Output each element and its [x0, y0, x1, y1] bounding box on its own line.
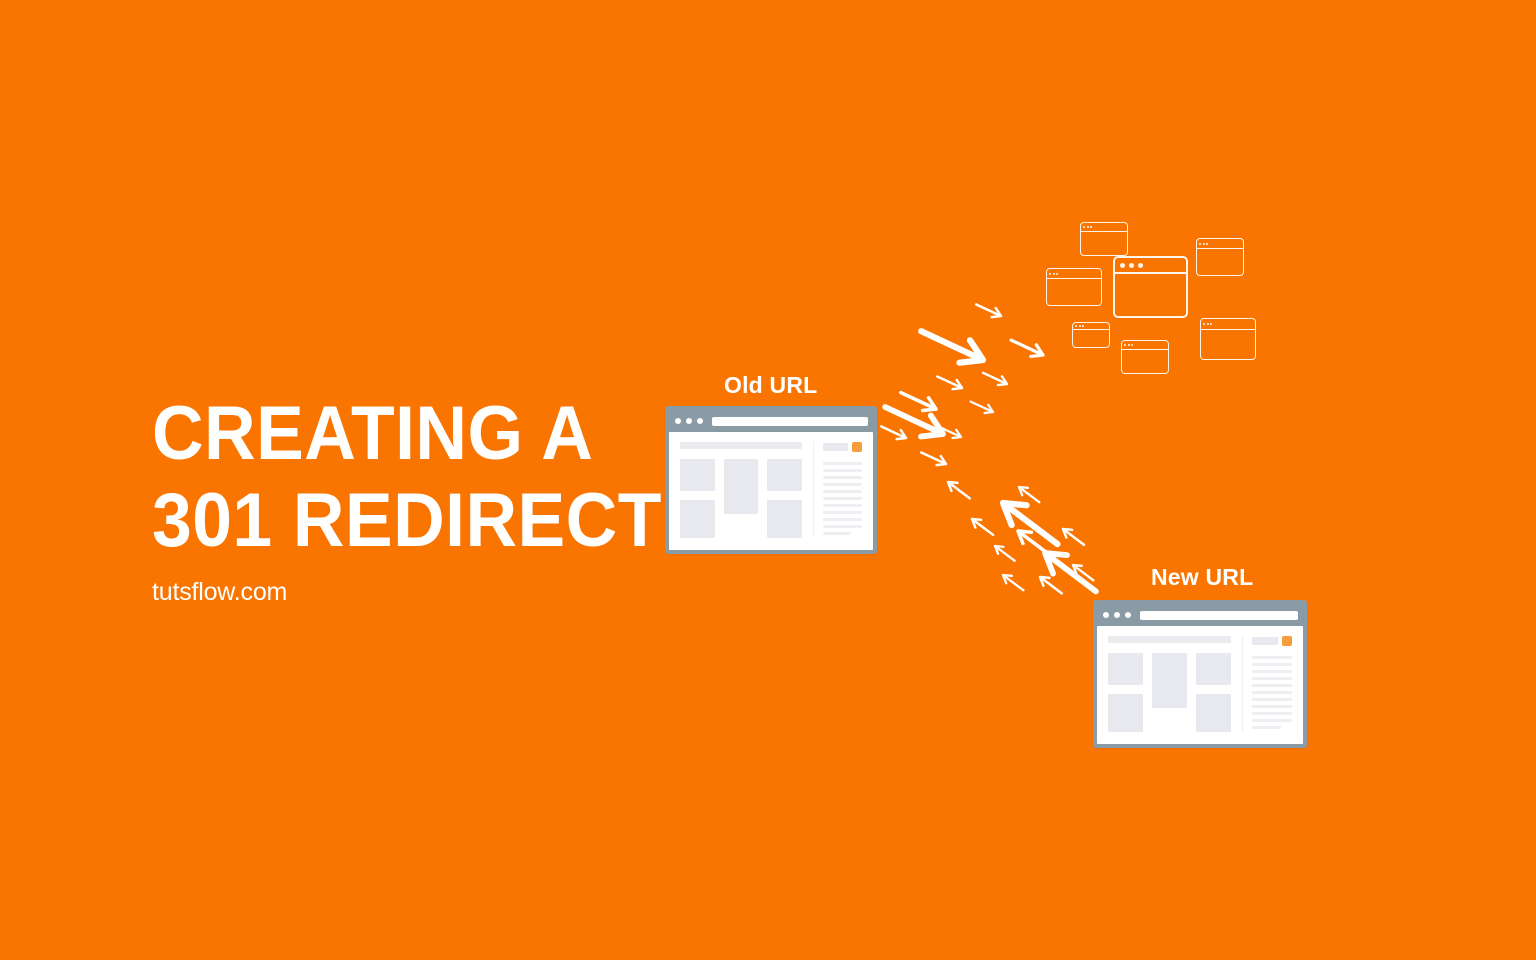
window-icon-dot — [1083, 226, 1085, 228]
sidebar-search-row — [823, 442, 862, 452]
window-control-dot-close[interactable] — [1103, 612, 1109, 618]
sidebar-search-input[interactable] — [1252, 637, 1278, 645]
text-line — [823, 490, 862, 493]
window-controls — [1103, 612, 1131, 618]
window-icon-dot — [1087, 226, 1089, 228]
window-icon-dot — [1199, 243, 1201, 245]
text-line — [823, 504, 862, 507]
window-icon-dot — [1131, 344, 1133, 346]
browser-viewport — [1097, 626, 1303, 744]
window-icon-5 — [1072, 322, 1110, 348]
window-icon-dot — [1128, 344, 1130, 346]
text-line — [1252, 670, 1292, 673]
address-bar[interactable] — [712, 417, 868, 426]
text-line — [1252, 684, 1292, 687]
window-icon-titlebar — [1081, 223, 1127, 232]
window-icon-2 — [1046, 268, 1102, 306]
text-line — [1252, 726, 1281, 729]
window-icon-dot — [1206, 243, 1208, 245]
new-url-browser-window — [1093, 600, 1307, 748]
window-icon-titlebar — [1201, 319, 1255, 330]
headline-block: CREATING A 301 REDIRECT tutsflow.com — [152, 398, 672, 605]
text-line — [823, 532, 851, 535]
window-icon-dot — [1082, 325, 1084, 327]
page-sidebar — [1242, 636, 1292, 732]
text-line — [1252, 656, 1292, 659]
window-icon-dot — [1124, 344, 1126, 346]
tile-column-center — [724, 459, 759, 538]
sidebar-text-lines — [823, 462, 862, 535]
window-control-dot-maximize[interactable] — [697, 418, 703, 424]
text-line — [823, 511, 862, 514]
old-url-browser-window — [665, 406, 877, 554]
tile-column-left — [680, 459, 715, 538]
window-icon-dot — [1120, 263, 1125, 268]
window-icon-7 — [1200, 318, 1256, 360]
text-line — [823, 518, 862, 521]
window-icon-dot — [1138, 263, 1143, 268]
browser-viewport — [669, 432, 873, 550]
window-icon-dot — [1079, 325, 1081, 327]
text-line — [823, 462, 862, 465]
text-line — [823, 497, 862, 500]
window-icon-titlebar — [1073, 323, 1109, 330]
content-tile — [724, 459, 759, 514]
page-title-line-2: 301 REDIRECT — [152, 485, 641, 558]
content-tile — [1196, 653, 1231, 685]
poster-canvas: CREATING A 301 REDIRECT tutsflow.com — [0, 0, 1536, 960]
content-tile — [1108, 694, 1143, 732]
tile-column-center — [1152, 653, 1187, 732]
text-line — [1252, 691, 1292, 694]
window-icon-dot — [1053, 273, 1055, 275]
text-line — [823, 483, 862, 486]
sidebar-search-row — [1252, 636, 1292, 646]
sidebar-search-button[interactable] — [1282, 636, 1292, 646]
window-icon-dot — [1056, 273, 1058, 275]
text-line — [823, 469, 862, 472]
browser-chrome-bar — [1097, 604, 1303, 626]
sidebar-search-input[interactable] — [823, 443, 848, 451]
sidebar-search-button[interactable] — [852, 442, 862, 452]
new-url-label: New URL — [1151, 564, 1253, 591]
arrows-to-new-url — [945, 478, 1103, 601]
page-title-line-1: CREATING A — [152, 398, 641, 471]
page-main-column — [680, 442, 802, 538]
old-url-label: Old URL — [724, 372, 817, 399]
window-control-dot-minimize[interactable] — [686, 418, 692, 424]
content-tile — [1196, 694, 1231, 732]
page-sidebar — [813, 442, 862, 538]
tile-column-left — [1108, 653, 1143, 732]
window-icon-dot — [1090, 226, 1092, 228]
window-icon-1 — [1080, 222, 1128, 256]
window-icon-4 — [1196, 238, 1244, 276]
window-icon-titlebar — [1122, 341, 1168, 350]
text-line — [1252, 663, 1292, 666]
site-credit: tutsflow.com — [152, 580, 672, 605]
content-tile — [767, 459, 802, 491]
text-line — [1252, 705, 1292, 708]
page-header-placeholder — [1108, 636, 1231, 643]
text-line — [1252, 719, 1292, 722]
text-line — [823, 476, 862, 479]
content-tile — [680, 500, 715, 538]
arrows-to-old-url — [879, 300, 1046, 469]
window-control-dot-minimize[interactable] — [1114, 612, 1120, 618]
window-icon-titlebar — [1047, 269, 1101, 279]
window-control-dot-maximize[interactable] — [1125, 612, 1131, 618]
text-line — [1252, 677, 1292, 680]
window-icon-titlebar — [1115, 258, 1186, 274]
window-controls — [675, 418, 703, 424]
content-tile — [680, 459, 715, 491]
browser-chrome-bar — [669, 410, 873, 432]
content-tile — [767, 500, 802, 538]
window-icon-dot — [1049, 273, 1051, 275]
content-tile — [1152, 653, 1187, 708]
window-icon-3 — [1113, 256, 1188, 318]
window-icon-dot — [1203, 323, 1205, 325]
window-icon-dot — [1207, 323, 1209, 325]
tile-column-right — [767, 459, 802, 538]
text-line — [823, 525, 862, 528]
window-icon-dot — [1210, 323, 1212, 325]
tile-column-right — [1196, 653, 1231, 732]
address-bar[interactable] — [1140, 611, 1298, 620]
page-header-placeholder — [680, 442, 802, 449]
text-line — [1252, 712, 1292, 715]
content-tile — [1108, 653, 1143, 685]
window-control-dot-close[interactable] — [675, 418, 681, 424]
content-tile-grid — [680, 459, 802, 538]
sidebar-text-lines — [1252, 656, 1292, 729]
window-icon-dot — [1129, 263, 1134, 268]
window-icon-dot — [1075, 325, 1077, 327]
page-main-column — [1108, 636, 1231, 732]
window-icon-titlebar — [1197, 239, 1243, 249]
window-icon-6 — [1121, 340, 1169, 374]
text-line — [1252, 698, 1292, 701]
content-tile-grid — [1108, 653, 1231, 732]
window-icon-dot — [1203, 243, 1205, 245]
